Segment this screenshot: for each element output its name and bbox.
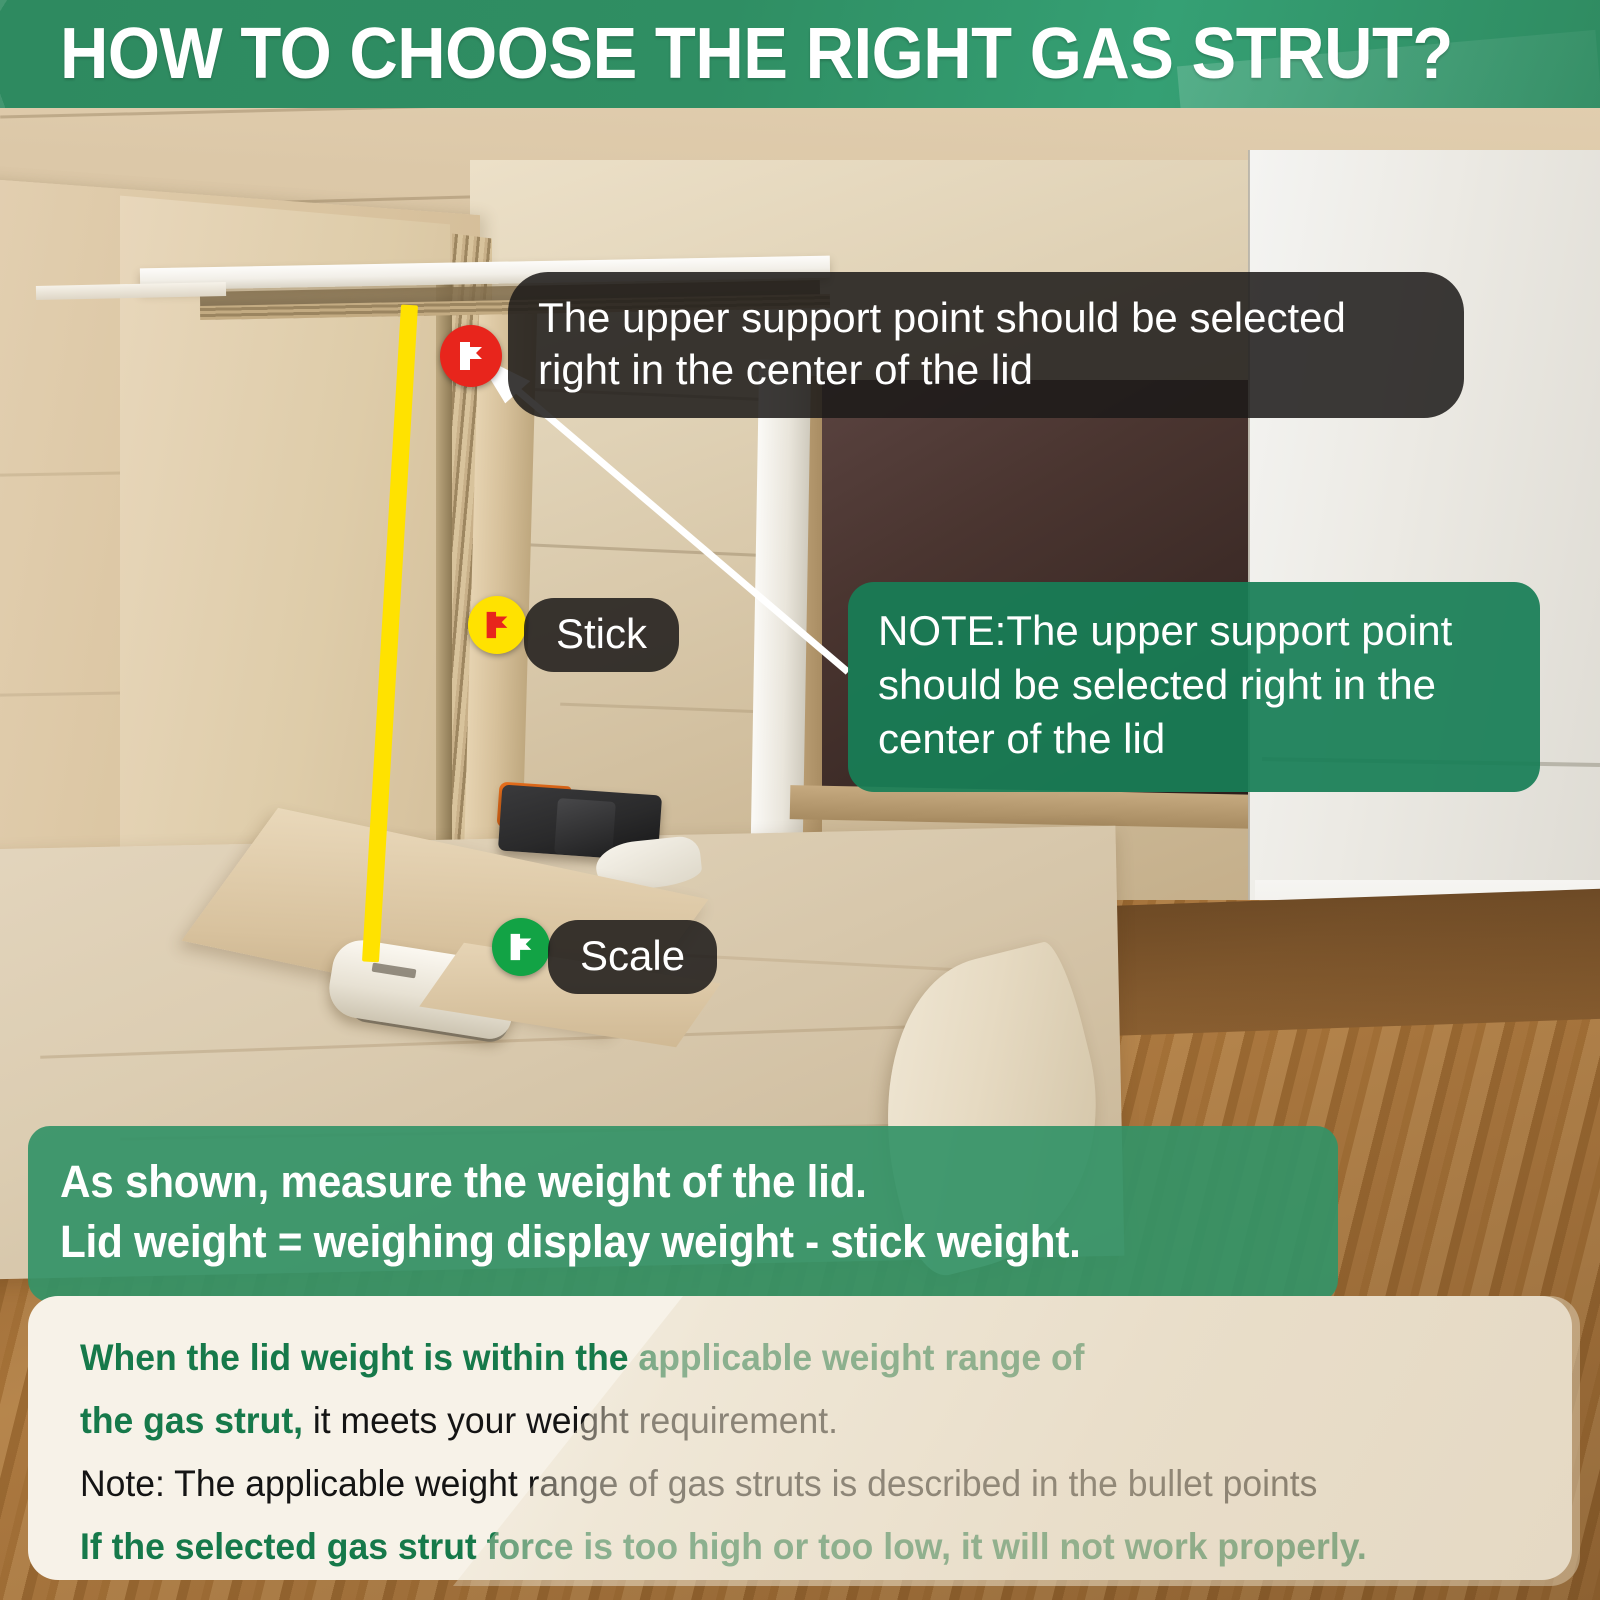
requirement-line-4-green: If the selected gas strut force is too h… [80, 1526, 1367, 1567]
scale-label: Scale [548, 920, 717, 994]
flag-icon [481, 609, 513, 641]
summary-line-2: Lid weight = weighing display weight - s… [60, 1212, 1233, 1272]
requirement-line-4: If the selected gas strut force is too h… [80, 1515, 1478, 1578]
flag-icon [454, 339, 488, 373]
white-board-vertical [751, 360, 811, 841]
summary-line-1: As shown, measure the weight of the lid. [60, 1152, 1233, 1212]
flag-icon [505, 931, 537, 963]
infographic-page: HOW TO CHOOSE THE RIGHT GAS STRUT? The u… [0, 0, 1600, 1600]
upper-support-point-marker[interactable] [440, 325, 502, 387]
stick-marker[interactable] [468, 596, 526, 654]
requirement-line-1: When the lid weight is within the applic… [80, 1326, 1478, 1389]
page-title: HOW TO CHOOSE THE RIGHT GAS STRUT? [60, 14, 1453, 94]
stick-label: Stick [524, 598, 679, 672]
upper-support-callout: The upper support point should be select… [508, 272, 1464, 418]
header-banner: HOW TO CHOOSE THE RIGHT GAS STRUT? [0, 0, 1600, 108]
requirement-line-2-green: the gas strut, [80, 1400, 303, 1441]
requirement-line-2: the gas strut, it meets your weight requ… [80, 1389, 1478, 1452]
requirement-line-2-black: it meets your weight requirement. [303, 1400, 838, 1441]
note-callout: NOTE:The upper support point should be s… [848, 582, 1540, 792]
requirement-line-3: Note: The applicable weight range of gas… [80, 1452, 1478, 1515]
requirement-line-3-black: Note: The applicable weight range of gas… [80, 1463, 1317, 1504]
requirement-line-1-green: When the lid weight is within the applic… [80, 1337, 1084, 1378]
requirement-box: When the lid weight is within the applic… [28, 1296, 1572, 1580]
scale-marker[interactable] [492, 918, 550, 976]
summary-panel: As shown, measure the weight of the lid.… [28, 1126, 1338, 1302]
battery-pack [554, 798, 616, 858]
